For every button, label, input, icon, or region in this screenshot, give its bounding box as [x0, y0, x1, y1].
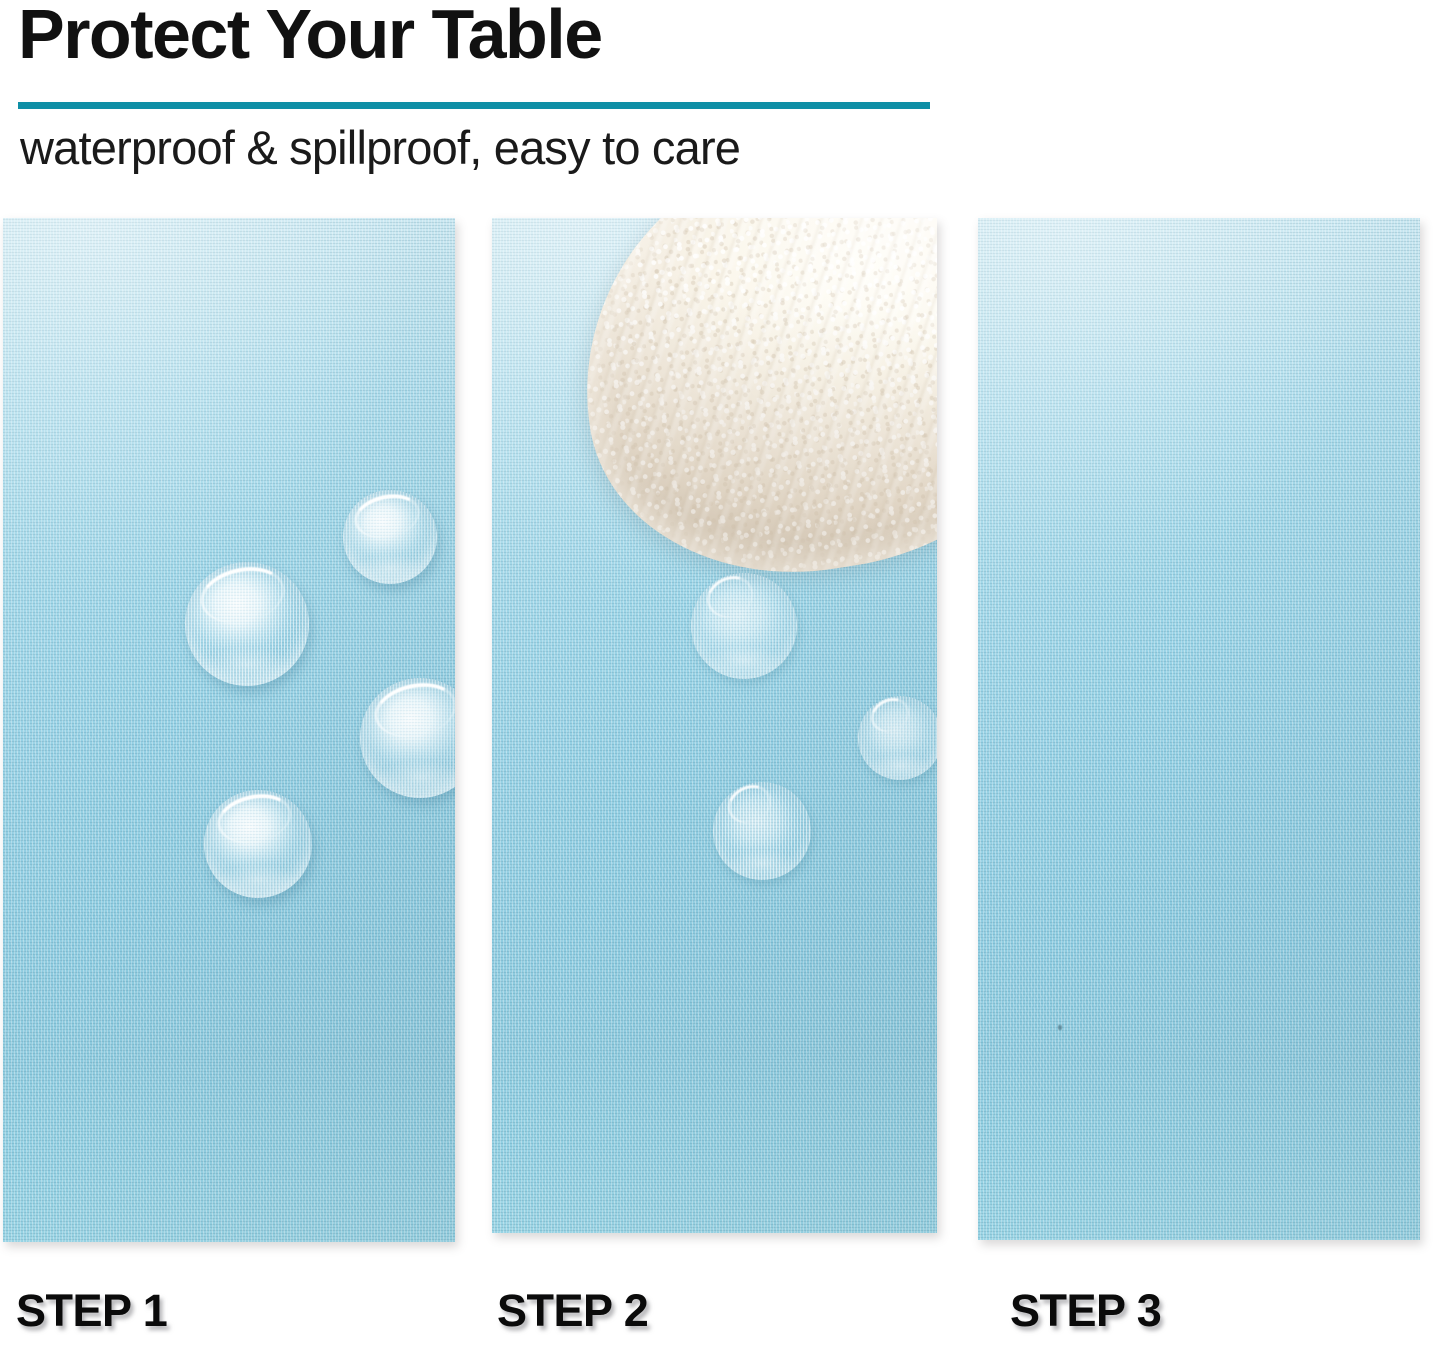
fabric-light-sheen	[978, 218, 1420, 1240]
droplet-base-glow	[717, 845, 807, 880]
page-subtitle: waterproof & spillproof, easy to care	[20, 120, 740, 175]
water-droplet	[343, 490, 437, 584]
droplet-base-glow	[208, 859, 307, 898]
step-1-image-panel	[3, 218, 455, 1242]
droplet-base-glow	[347, 550, 433, 584]
step-2-image-panel	[492, 218, 937, 1233]
water-droplet	[185, 562, 309, 686]
blue-fabric-texture	[978, 218, 1420, 1240]
water-droplet	[858, 696, 937, 780]
step-2-label: STEP 2	[497, 1285, 648, 1337]
white-terry-towel	[552, 218, 937, 603]
step-3-label: STEP 3	[1010, 1285, 1161, 1337]
step-3-image-panel	[978, 218, 1420, 1240]
fabric-speck	[1058, 1025, 1062, 1030]
droplet-base-glow	[695, 641, 793, 679]
header: Protect Your Table waterproof & spillpro…	[0, 0, 1445, 205]
droplet-base-glow	[861, 750, 937, 780]
water-droplet	[691, 573, 797, 679]
water-droplet	[204, 790, 312, 898]
title-divider-rule	[18, 102, 930, 109]
step-1-label: STEP 1	[16, 1285, 167, 1337]
water-droplet	[713, 782, 811, 880]
water-droplet	[360, 678, 455, 798]
page-title: Protect Your Table	[18, 0, 602, 72]
droplet-base-glow	[190, 641, 304, 686]
